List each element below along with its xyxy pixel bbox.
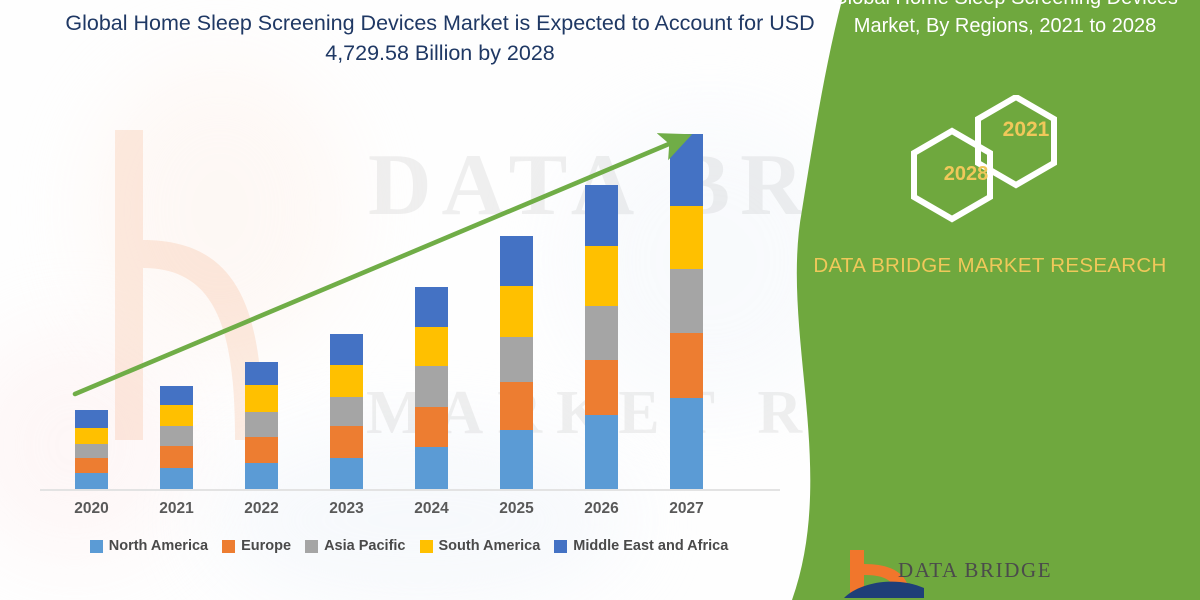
x-tick-2020: 2020 [52,500,132,518]
legend-label: South America [439,538,541,554]
chart-legend: North AmericaEuropeAsia PacificSouth Ame… [0,538,818,554]
bar-segment [245,463,278,489]
legend-item[interactable]: Europe [222,538,291,554]
bar-2022 [245,362,278,489]
bar-segment [585,306,618,360]
bar-segment [75,458,108,473]
bar-segment [160,446,193,468]
hexagon-2021-label: 2021 [978,118,1074,142]
bar-2021 [160,386,193,489]
legend-item[interactable]: Asia Pacific [305,538,405,554]
bar-segment [500,236,533,286]
branding-panel: Global Home Sleep Screening Devices Mark… [780,0,1200,600]
bar-segment [75,428,108,444]
x-tick-2022: 2022 [222,500,302,518]
bar-segment [245,385,278,412]
bar-segment [585,415,618,489]
x-tick-2021: 2021 [137,500,217,518]
bar-segment [500,286,533,337]
legend-item[interactable]: Middle East and Africa [554,538,728,554]
legend-swatch [554,540,567,553]
bar-segment [330,365,363,397]
hexagon-2028-label: 2028 [918,163,1014,186]
x-axis-line [40,489,780,491]
x-tick-2025: 2025 [477,500,557,518]
legend-label: Europe [241,538,291,554]
bar-segment [670,206,703,269]
bar-segment [585,185,618,246]
legend-label: Middle East and Africa [573,538,728,554]
bar-2024 [415,287,448,489]
bar-segment [415,327,448,366]
bar-segment [330,426,363,458]
bar-segment [330,334,363,365]
bar-2026 [585,185,618,489]
bar-segment [670,134,703,206]
bar-segment [245,437,278,463]
bar-segment [585,360,618,415]
bar-segment [245,362,278,385]
panel-heading: Global Home Sleep Screening Devices Mark… [815,0,1195,40]
bar-segment [415,366,448,407]
bar-segment [330,397,363,426]
x-tick-2023: 2023 [307,500,387,518]
bar-2025 [500,236,533,489]
bar-segment [415,447,448,489]
bar-segment [75,444,108,458]
bar-segment [585,246,618,306]
bar-segment [330,458,363,489]
x-tick-2027: 2027 [647,500,727,518]
bar-segment [500,430,533,489]
bar-segment [670,269,703,333]
chart-panel: DATA BRIDGE MARKET RESEARCH Global Home … [0,0,880,600]
bar-segment [75,473,108,489]
bar-segment [160,405,193,426]
brand-name: DATA BRIDGE MARKET RESEARCH [800,252,1180,280]
legend-item[interactable]: South America [420,538,541,554]
bar-segment [245,412,278,437]
bar-segment [75,410,108,428]
bar-segment [670,333,703,398]
legend-label: North America [109,538,208,554]
bar-segment [160,468,193,489]
bar-segment [415,407,448,447]
bar-segment [160,386,193,405]
legend-swatch [222,540,235,553]
legend-label: Asia Pacific [324,538,405,554]
x-tick-2026: 2026 [562,500,642,518]
bar-segment [670,398,703,489]
bar-2020 [75,410,108,489]
bar-segment [500,382,533,430]
legend-item[interactable]: North America [90,538,208,554]
databridge-logo-text: DATA BRIDGE [898,558,1052,583]
bar-segment [500,337,533,382]
bar-2027 [670,134,703,489]
legend-swatch [305,540,318,553]
hexagon-badges [880,95,1070,225]
legend-swatch [90,540,103,553]
x-tick-2024: 2024 [392,500,472,518]
legend-swatch [420,540,433,553]
bar-2023 [330,334,363,489]
bar-segment [160,426,193,446]
plot-area: 20202021202220232024202520262027 [0,0,880,600]
bar-segment [415,287,448,327]
